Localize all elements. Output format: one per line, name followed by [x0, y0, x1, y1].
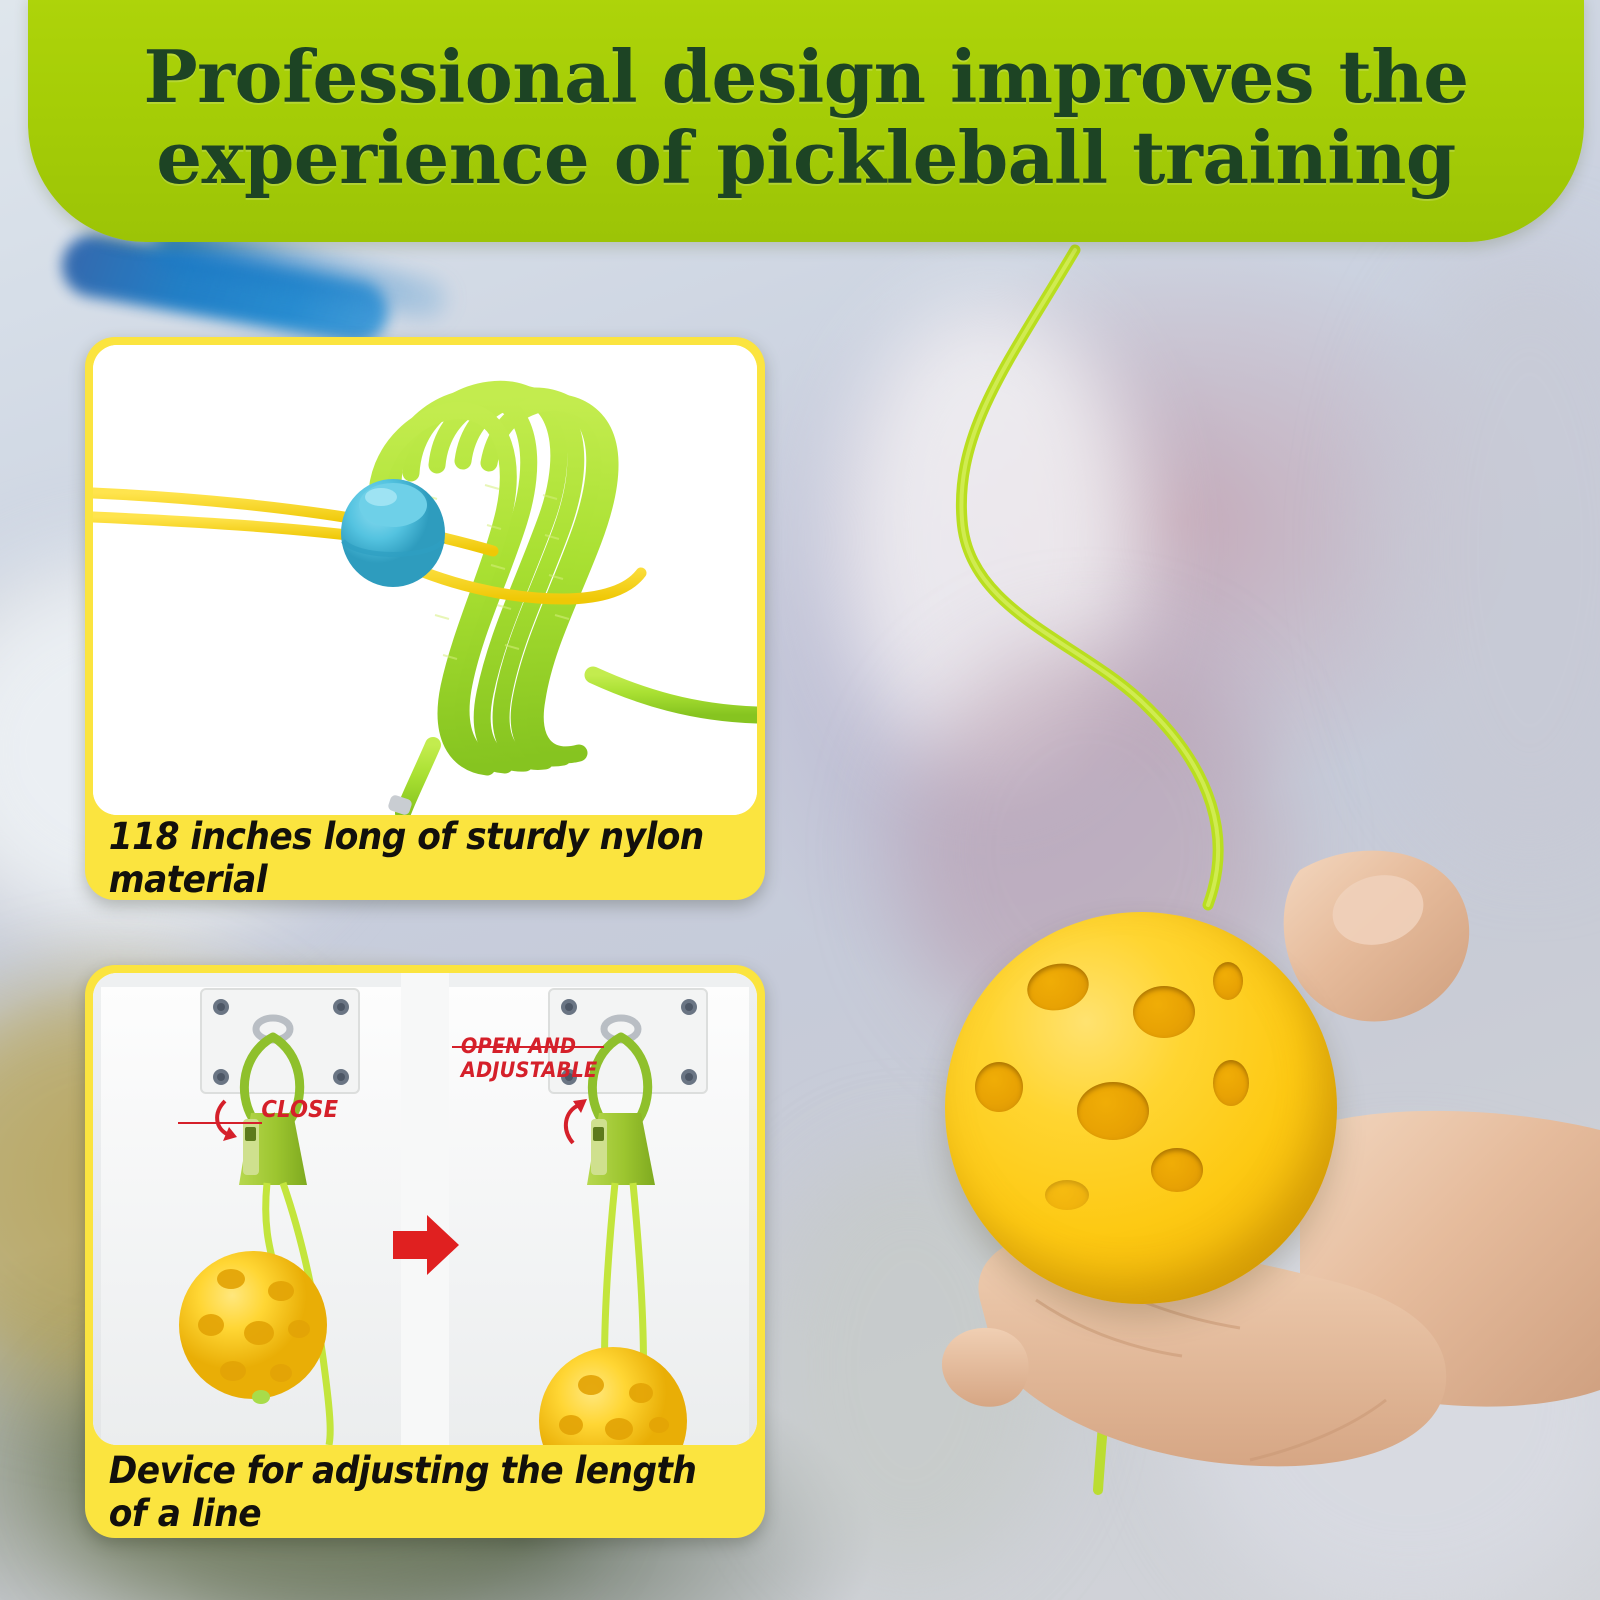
- ball-hole: [1151, 1148, 1203, 1192]
- open-annotation-line1: OPEN AND: [461, 1035, 597, 1059]
- ball-hole: [1077, 1082, 1149, 1140]
- ball-hole: [1213, 1060, 1249, 1106]
- header-banner: Professional design improves the experie…: [28, 0, 1584, 242]
- ball-hole: [1023, 958, 1093, 1016]
- product-feature-image: Professional design improves the experie…: [0, 0, 1600, 1600]
- ball-hole: [975, 1062, 1023, 1112]
- rope-photo: [93, 345, 757, 815]
- rope-scene: [93, 345, 757, 815]
- clip-photo: [93, 973, 757, 1445]
- card-rope-caption: 118 inches long of sturdy nylon material: [109, 815, 741, 900]
- feature-card-rope[interactable]: 118 inches long of sturdy nylon material: [85, 337, 765, 900]
- close-leader-line: [178, 1122, 262, 1124]
- rope-illustration: [93, 345, 757, 815]
- open-annotation-line2: ADJUSTABLE: [461, 1059, 597, 1083]
- card-clip-caption: Device for adjusting the length of a lin…: [109, 1445, 741, 1538]
- open-adjustable-annotation: OPEN AND ADJUSTABLE: [461, 1035, 597, 1082]
- feature-card-clip[interactable]: Device for adjusting the length of a lin…: [85, 965, 765, 1538]
- ball-hole: [1213, 962, 1243, 1000]
- hero-pickleball: [945, 912, 1337, 1304]
- page-title: Professional design improves the experie…: [28, 37, 1584, 198]
- clip-scene: [93, 973, 757, 1445]
- ball-hole: [1045, 1180, 1089, 1210]
- close-annotation: CLOSE: [261, 1098, 338, 1124]
- ball-hole: [1133, 986, 1195, 1038]
- clip-illustration: [93, 973, 757, 1445]
